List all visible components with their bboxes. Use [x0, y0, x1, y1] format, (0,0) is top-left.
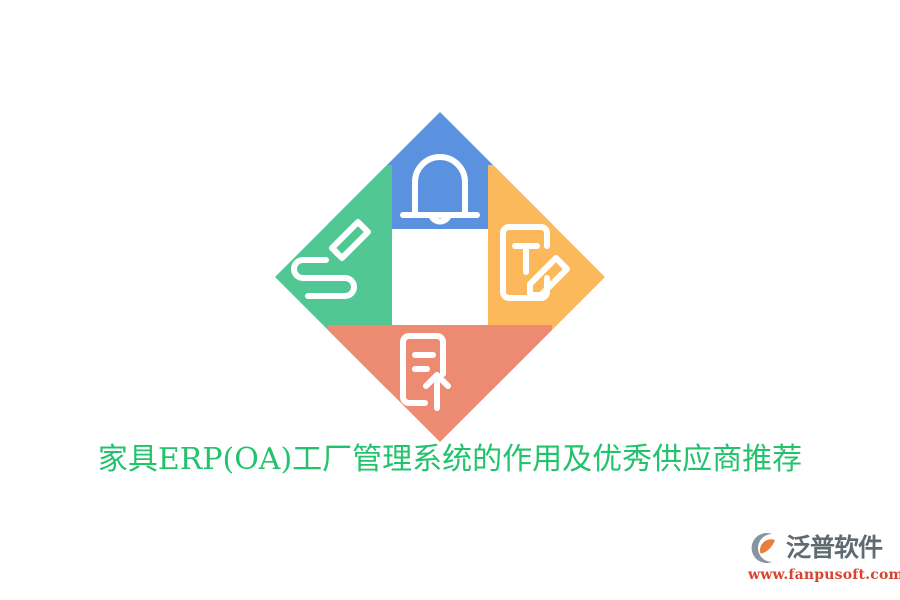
page-title: 家具ERP(OA)工厂管理系统的作用及优秀供应商推荐	[0, 440, 900, 480]
watermark-brand-name: 泛普软件	[786, 531, 882, 565]
watermark-brand-row: 泛普软件	[748, 530, 888, 566]
diamond-svg	[275, 112, 605, 442]
diamond-quadrant-bottom[interactable]	[328, 325, 552, 442]
diamond-center-panel	[392, 229, 488, 325]
oa-feature-diamond	[275, 112, 605, 442]
page-canvas: 家具ERP(OA)工厂管理系统的作用及优秀供应商推荐 泛普软件 www.fanp…	[0, 0, 900, 600]
fanpu-circle-swoosh-icon	[748, 531, 782, 565]
watermark-url: www.fanpusoft.com	[748, 566, 888, 584]
watermark-logo: 泛普软件 www.fanpusoft.com	[748, 530, 888, 592]
